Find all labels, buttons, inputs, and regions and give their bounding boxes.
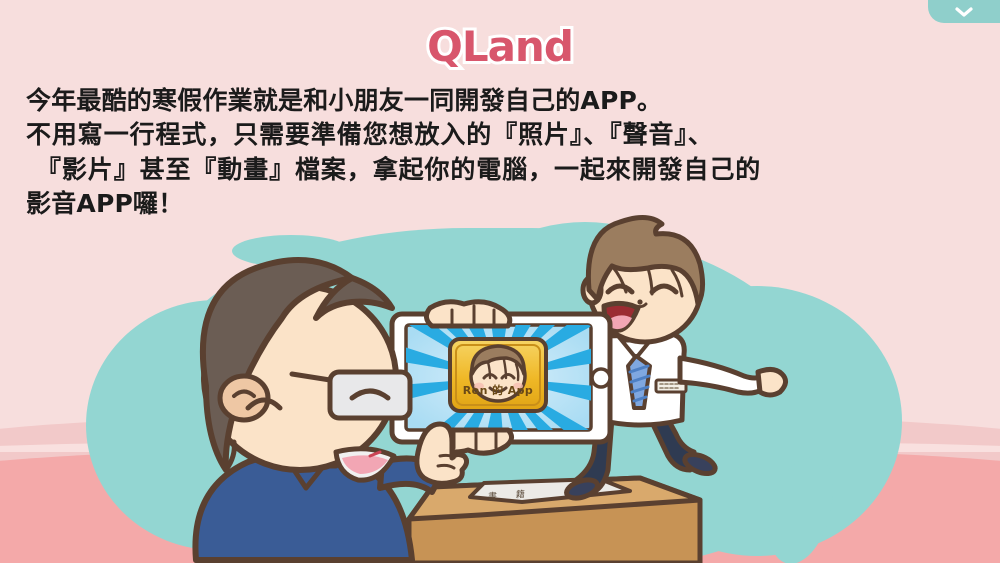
chevron-down-icon	[954, 6, 974, 18]
teal-blob-puff-a	[232, 235, 350, 267]
teal-blob-left	[86, 300, 346, 550]
collapse-panel-button[interactable]	[928, 0, 1000, 23]
headline-line-1: 今年最酷的寒假作業就是和小朋友一同開發自己的APP。	[26, 84, 986, 117]
brand-logo-text: QLand	[427, 26, 573, 68]
promo-slide: QLand 今年最酷的寒假作業就是和小朋友一同開發自己的APP。 不用寫一行程式…	[0, 0, 1000, 563]
headline-line-4: 影音APP囉！	[26, 187, 986, 220]
teal-blob-hump-2	[470, 222, 700, 372]
headline-text-block: 今年最酷的寒假作業就是和小朋友一同開發自己的APP。 不用寫一行程式，只需要準備…	[26, 84, 986, 221]
headline-line-2: 不用寫一行程式，只需要準備您想放入的『照片』、『聲音』、	[26, 118, 986, 151]
brand-logo: QLand	[0, 26, 1000, 68]
headline-line-3: 『影片』甚至『動畫』檔案，拿起你的電腦，一起來開發自己的	[26, 153, 986, 186]
teal-blob-puff-b	[415, 234, 445, 250]
